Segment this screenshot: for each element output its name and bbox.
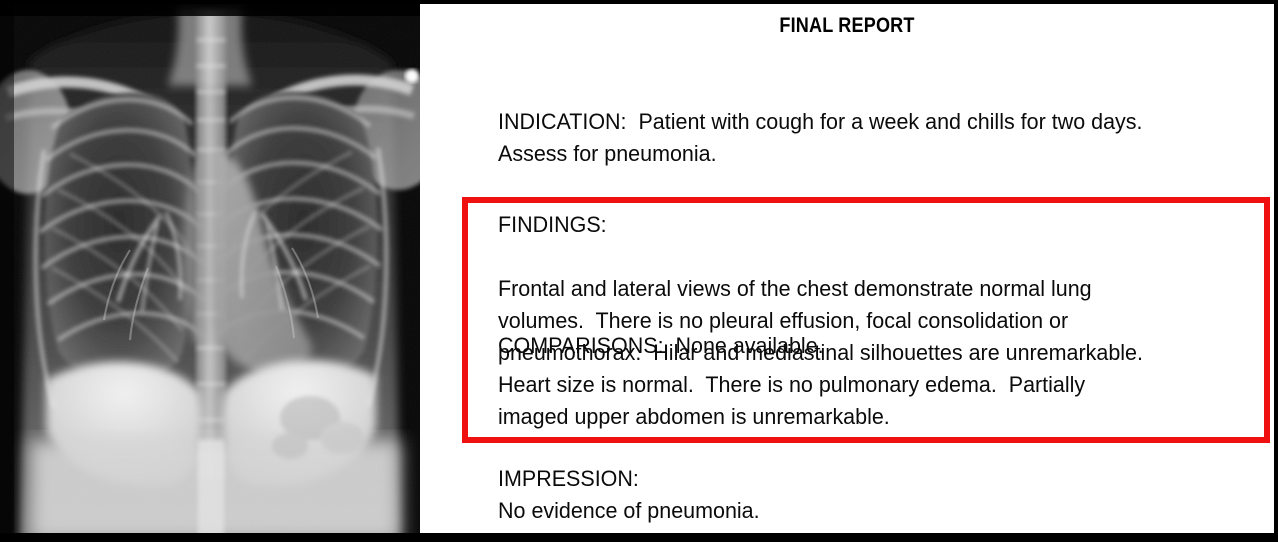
report-text-panel: FINAL REPORT INDICATION: Patient with co… — [420, 0, 1274, 542]
chest-xray-image[interactable] — [0, 0, 420, 542]
chest-xray-graphic — [0, 0, 420, 542]
findings-section: FINDINGS: Frontal and lateral views of t… — [498, 209, 1235, 433]
page-title: FINAL REPORT — [480, 14, 1214, 38]
impression-section: IMPRESSION: No evidence of pneumonia. — [498, 463, 1235, 527]
report-viewer: FINAL REPORT INDICATION: Patient with co… — [0, 0, 1278, 542]
indication-section: INDICATION: Patient with cough for a wee… — [498, 106, 1235, 170]
